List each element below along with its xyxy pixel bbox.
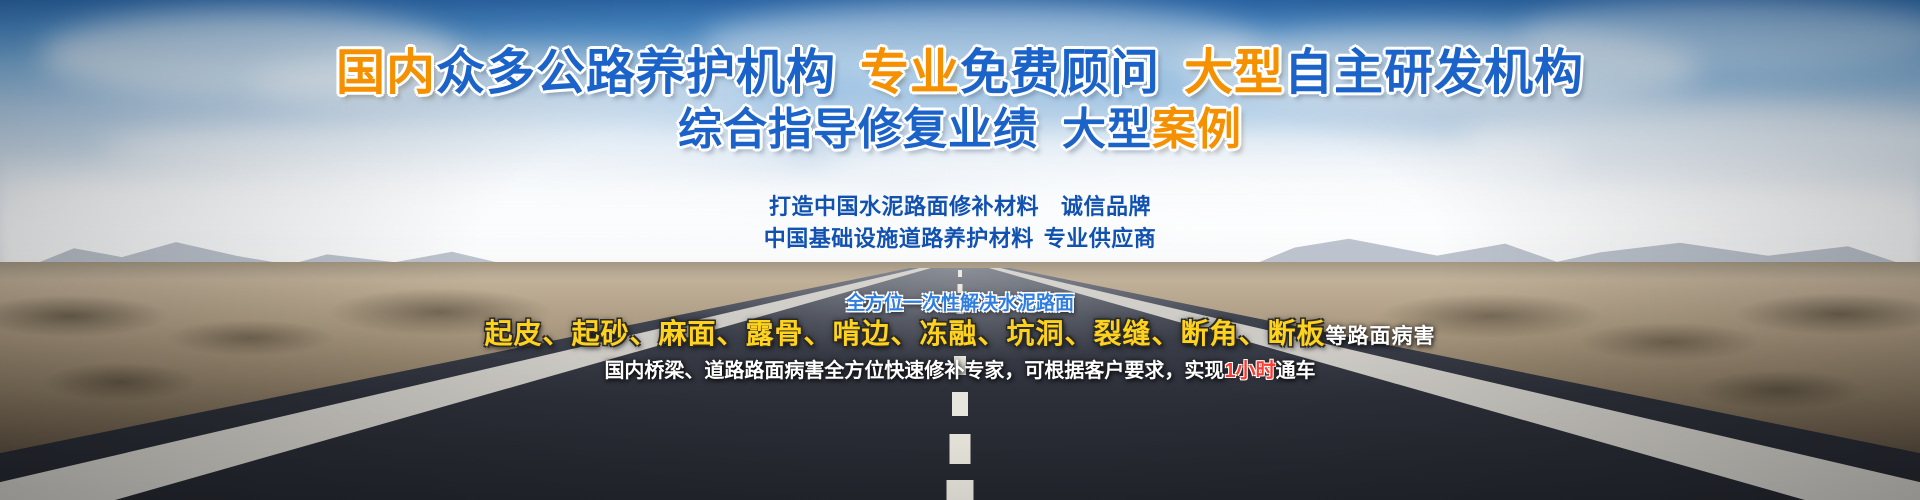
lower-line-1: 全方位一次性解决水泥路面: [846, 293, 1074, 314]
lower-line-3-part-c: 通车: [1276, 360, 1316, 382]
promotional-banner: 国内众多公路养护机构专业免费顾问大型自主研发机构 综合指导修复业绩大型案例 打造…: [0, 0, 1920, 500]
headline-segment-guonei: 国内: [336, 46, 436, 100]
subtitle-text-a: 打造中国水泥路面修补材料: [769, 194, 1039, 219]
defect-tail: 等路面病害: [1326, 325, 1436, 348]
headline-segment-zizhu: 自主研发机构: [1284, 46, 1584, 100]
subtitle-text-d: 专业供应商: [1044, 226, 1157, 251]
lower-line-3-highlight: 1小时: [1224, 360, 1275, 382]
subtitle-line-1: 打造中国水泥路面修补材料诚信品牌: [769, 194, 1151, 219]
lower-line-2-wrap: 起皮、起砂、麻面、露骨、啃边、冻融、坑洞、裂缝、断角、断板等路面病害: [0, 316, 1920, 355]
subtitle-line-2-wrap: 中国基础设施道路养护材料专业供应商: [0, 224, 1920, 254]
headline-segment-daxing: 大型: [1184, 46, 1284, 100]
lower-line-1-wrap: 全方位一次性解决水泥路面: [0, 292, 1920, 316]
headline-segment-mianfei: 免费顾问: [960, 46, 1160, 100]
subtitle-line-2: 中国基础设施道路养护材料专业供应商: [764, 226, 1157, 251]
headline-line-1: 国内众多公路养护机构专业免费顾问大型自主研发机构: [0, 44, 1920, 102]
lower-line-3-wrap: 国内桥梁、道路路面病害全方位快速修补专家，可根据客户要求，实现1小时通车: [0, 358, 1920, 384]
subtitle-text-b: 诚信品牌: [1061, 194, 1151, 219]
subtitle-text-c: 中国基础设施道路养护材料: [764, 226, 1034, 251]
banner-text-layer: 国内众多公路养护机构专业免费顾问大型自主研发机构 综合指导修复业绩大型案例 打造…: [0, 0, 1920, 500]
headline-line-2: 综合指导修复业绩大型案例: [0, 104, 1920, 156]
headline-segment-anli: 案例: [1152, 105, 1242, 154]
subtitle-line-1-wrap: 打造中国水泥路面修补材料诚信品牌: [0, 192, 1920, 222]
headline-segment-zhongduo: 众多公路养护机构: [436, 46, 836, 100]
headline-segment-zhuanye: 专业: [860, 46, 960, 100]
lower-line-2: 起皮、起砂、麻面、露骨、啃边、冻融、坑洞、裂缝、断角、断板等路面病害: [484, 318, 1435, 349]
headline-segment-daxing-2: 大型: [1062, 105, 1152, 154]
defect-keywords: 起皮、起砂、麻面、露骨、啃边、冻融、坑洞、裂缝、断角、断板: [484, 318, 1325, 349]
lower-line-3-part-a: 国内桥梁、道路路面病害全方位快速修补专家，可根据客户要求，实现: [604, 360, 1224, 382]
headline-segment-zonghe: 综合指导修复业绩: [678, 105, 1038, 154]
lower-line-3: 国内桥梁、道路路面病害全方位快速修补专家，可根据客户要求，实现1小时通车: [604, 360, 1315, 382]
